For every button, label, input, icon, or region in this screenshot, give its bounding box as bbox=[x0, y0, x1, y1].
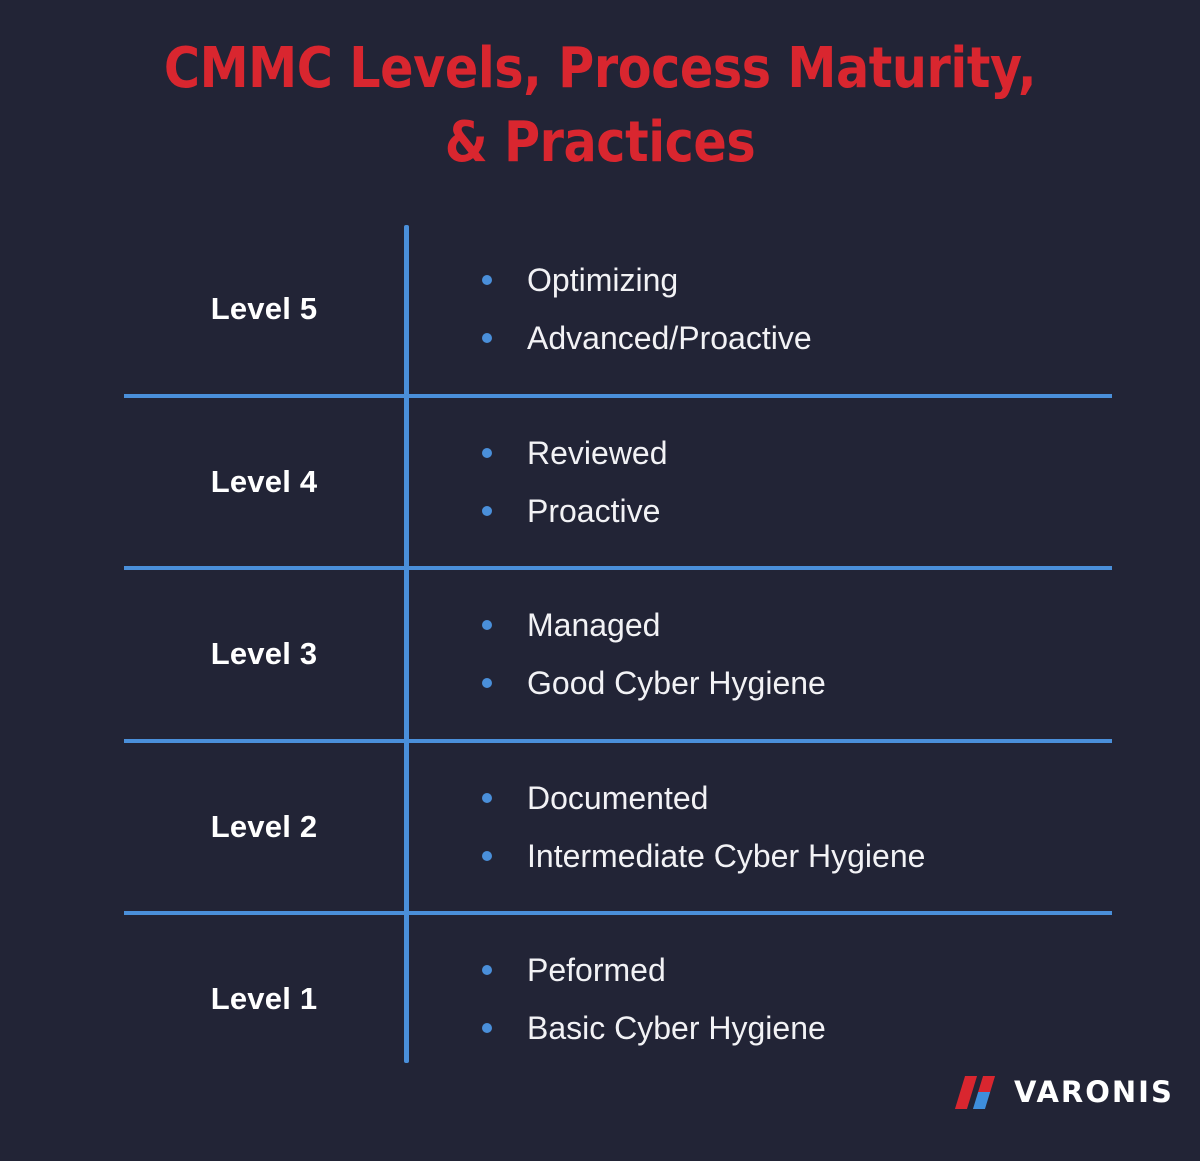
list-item: Intermediate Cyber Hygiene bbox=[482, 832, 1112, 880]
list-item-label: Peformed bbox=[527, 946, 666, 994]
varonis-logo-icon bbox=[958, 1076, 1004, 1109]
level-label: Level 2 bbox=[124, 809, 404, 845]
table-row: Level 3 Managed Good Cyber Hygiene bbox=[124, 566, 1112, 739]
level-label: Level 1 bbox=[124, 981, 404, 1017]
logo-bar-red-blue bbox=[973, 1076, 995, 1109]
level-practices-list: Documented Intermediate Cyber Hygiene bbox=[404, 774, 1112, 880]
varonis-logo: VARONIS bbox=[958, 1075, 1174, 1109]
list-item-label: Optimizing bbox=[527, 256, 678, 304]
page-title: CMMC Levels, Process Maturity, & Practic… bbox=[0, 32, 1200, 180]
level-practices-list: Managed Good Cyber Hygiene bbox=[404, 601, 1112, 707]
bullet-icon bbox=[482, 506, 492, 516]
list-item-label: Reviewed bbox=[527, 429, 668, 477]
table-row: Level 5 Optimizing Advanced/Proactive bbox=[124, 225, 1112, 394]
list-item: Optimizing bbox=[482, 256, 1112, 304]
level-practices-list: Peformed Basic Cyber Hygiene bbox=[404, 946, 1112, 1052]
list-item-label: Managed bbox=[527, 601, 660, 649]
bullet-icon bbox=[482, 793, 492, 803]
bullet-icon bbox=[482, 1023, 492, 1033]
level-label: Level 4 bbox=[124, 464, 404, 500]
bullet-icon bbox=[482, 678, 492, 688]
bullet-icon bbox=[482, 851, 492, 861]
list-item: Advanced/Proactive bbox=[482, 314, 1112, 362]
list-item-label: Good Cyber Hygiene bbox=[527, 659, 826, 707]
bullet-icon bbox=[482, 965, 492, 975]
bullet-icon bbox=[482, 333, 492, 343]
table-row: Level 4 Reviewed Proactive bbox=[124, 394, 1112, 567]
list-item-label: Basic Cyber Hygiene bbox=[527, 1004, 826, 1052]
list-item-label: Advanced/Proactive bbox=[527, 314, 812, 362]
list-item: Peformed bbox=[482, 946, 1112, 994]
list-item: Reviewed bbox=[482, 429, 1112, 477]
varonis-wordmark: VARONIS bbox=[1014, 1075, 1174, 1109]
list-item-label: Documented bbox=[527, 774, 708, 822]
list-item: Good Cyber Hygiene bbox=[482, 659, 1112, 707]
table-row: Level 2 Documented Intermediate Cyber Hy… bbox=[124, 739, 1112, 912]
level-label: Level 3 bbox=[124, 636, 404, 672]
page-title-line-1: CMMC Levels, Process Maturity, bbox=[72, 32, 1128, 106]
list-item: Proactive bbox=[482, 487, 1112, 535]
level-practices-list: Reviewed Proactive bbox=[404, 429, 1112, 535]
list-item: Managed bbox=[482, 601, 1112, 649]
bullet-icon bbox=[482, 275, 492, 285]
bullet-icon bbox=[482, 620, 492, 630]
list-item: Basic Cyber Hygiene bbox=[482, 1004, 1112, 1052]
cmmc-levels-table: Level 5 Optimizing Advanced/Proactive Le… bbox=[124, 225, 1112, 1063]
table-row: Level 1 Peformed Basic Cyber Hygiene bbox=[124, 911, 1112, 1084]
list-item-label: Intermediate Cyber Hygiene bbox=[527, 832, 925, 880]
level-label: Level 5 bbox=[124, 291, 404, 327]
bullet-icon bbox=[482, 448, 492, 458]
level-practices-list: Optimizing Advanced/Proactive bbox=[404, 256, 1112, 362]
list-item-label: Proactive bbox=[527, 487, 660, 535]
page-title-line-2: & Practices bbox=[72, 106, 1128, 180]
list-item: Documented bbox=[482, 774, 1112, 822]
